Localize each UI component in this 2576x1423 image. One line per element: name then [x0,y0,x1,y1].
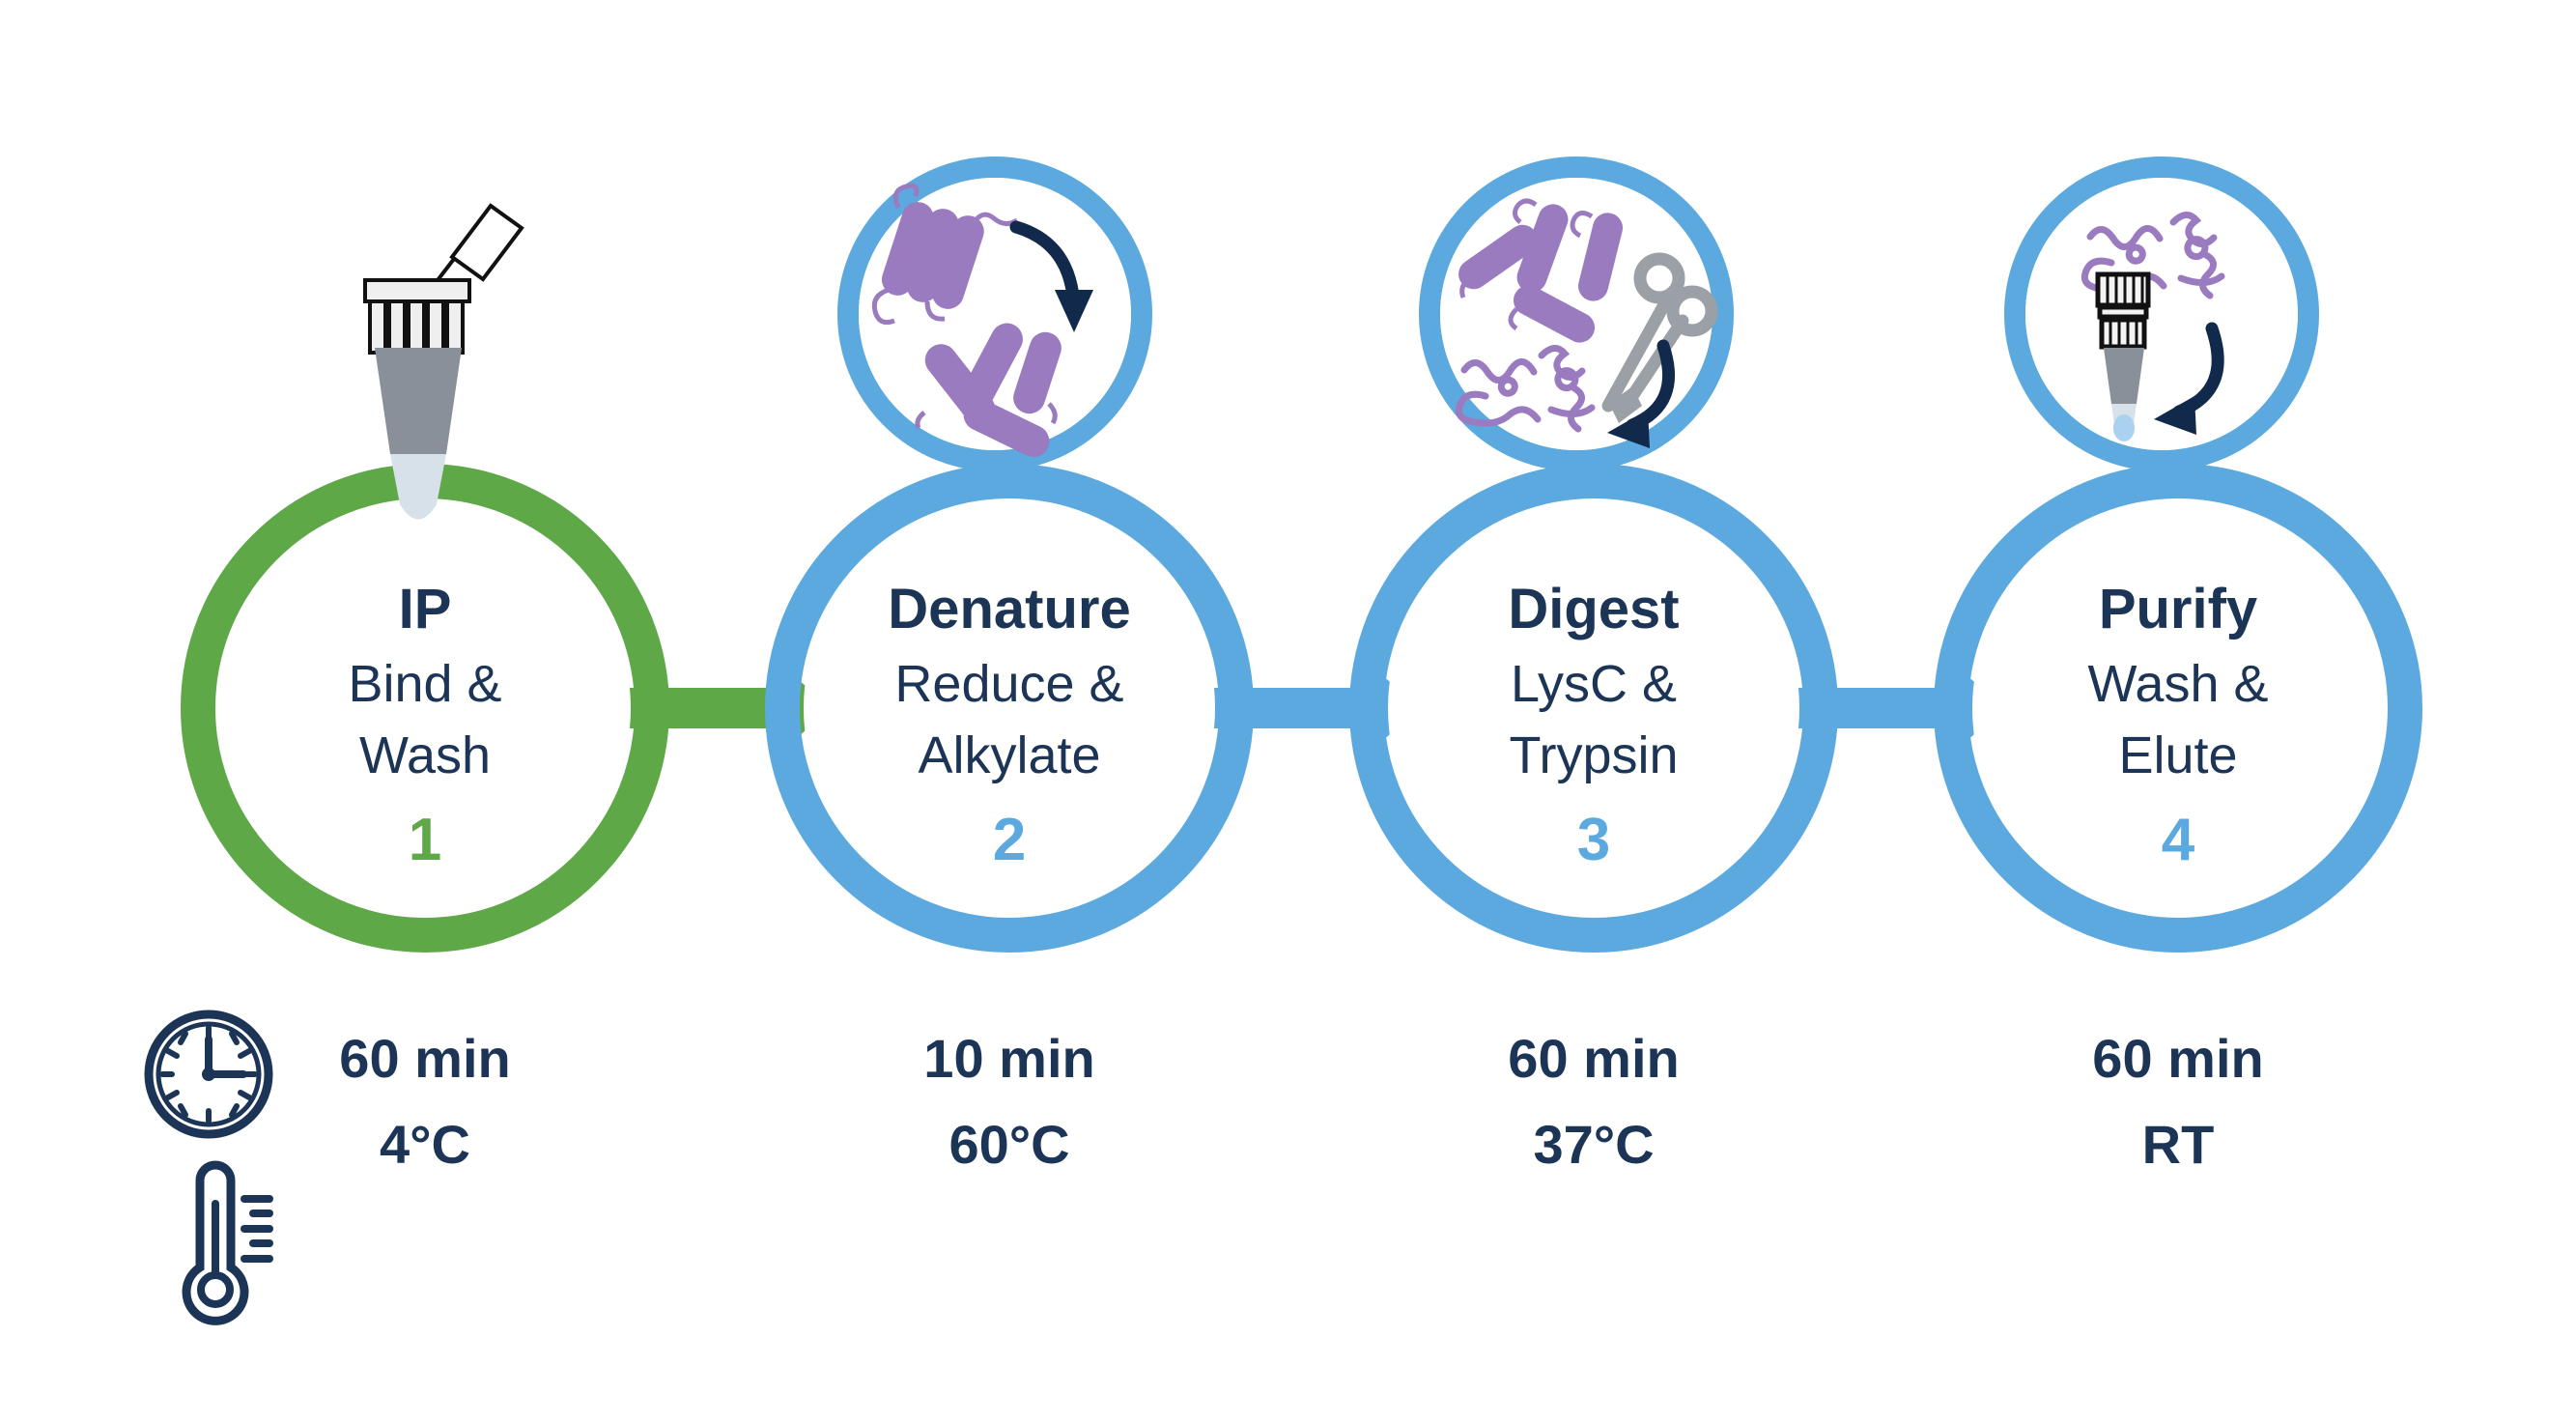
step-2-number: 2 [993,807,1026,873]
step-1-sub1: Bind & [348,655,501,713]
workflow-diagram: IP Bind & Wash 1 Denature Reduce & Alkyl… [0,0,2576,1423]
step-1-number: 1 [409,807,441,873]
step-2-title: Denature [888,578,1130,640]
step-4-sub1: Wash & [2087,655,2268,713]
step-4-title: Purify [2099,578,2257,640]
step-3-sub1: LysC & [1511,655,1677,713]
step-4-sub2: Elute [2118,726,2237,784]
step-2-time: 10 min [923,1028,1094,1089]
step-2-sub2: Alkylate [918,726,1100,784]
step-2-meta: 10 min 60°C [923,1028,1094,1175]
step-4-time: 60 min [2092,1028,2263,1089]
clock-icon [149,1014,269,1134]
step-3-sub2: Trypsin [1509,726,1678,784]
step-1-title: IP [399,578,452,640]
step-3-title: Digest [1508,578,1679,640]
step-3-number: 3 [1577,807,1610,873]
step-1-temp: 4°C [380,1114,470,1175]
step-1-sub2: Wash [359,726,491,784]
step-2-sub1: Reduce & [894,655,1123,713]
step-3-time: 60 min [1508,1028,1679,1089]
thermometer-icon [186,1165,269,1321]
step-4-meta: 60 min RT [2092,1028,2263,1175]
diagram-canvas: IP Bind & Wash 1 Denature Reduce & Alkyl… [0,0,2576,1423]
step-4-temp: RT [2142,1114,2215,1175]
step-1-time: 60 min [339,1028,510,1089]
step-2-temp: 60°C [948,1114,1069,1175]
step-3-meta: 60 min 37°C [1508,1028,1679,1175]
step-1-meta: 60 min 4°C [339,1028,510,1175]
step-3-temp: 37°C [1533,1114,1654,1175]
step-4-number: 4 [2162,807,2195,873]
